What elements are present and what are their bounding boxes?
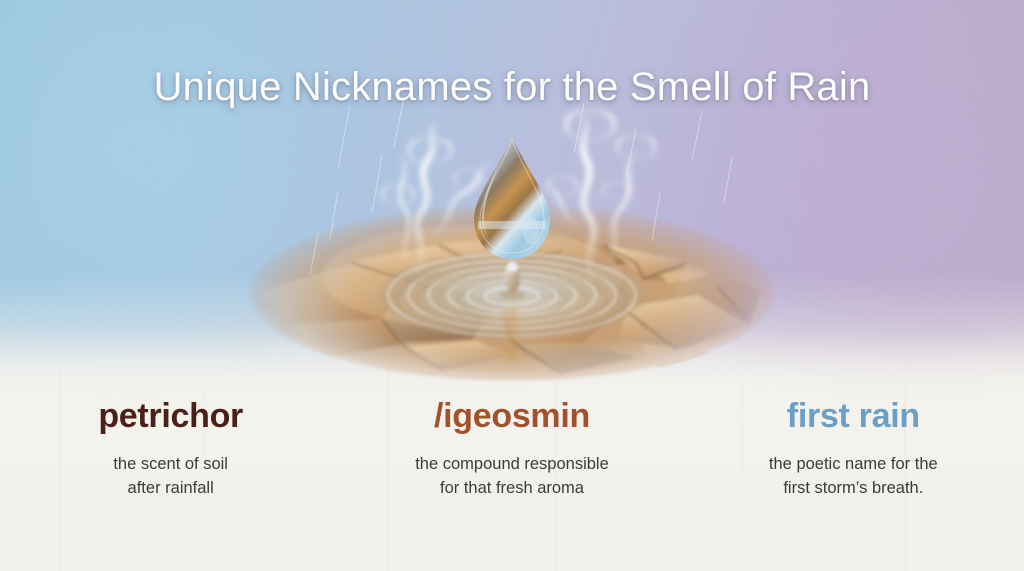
term-desc-line-2: for that fresh aroma — [353, 477, 670, 501]
term-column-geosmin: /igeosmin the compound responsible for t… — [341, 398, 682, 501]
term-list: petrichor the scent of soil after rainfa… — [0, 398, 1024, 501]
term-description-first-rain: the poetic name for the first storm’s br… — [695, 453, 1012, 501]
term-desc-line-2: after rainfall — [12, 477, 329, 501]
term-word-petrichor: petrichor — [12, 398, 329, 435]
term-description-petrichor: the scent of soil after rainfall — [12, 453, 329, 501]
term-desc-line-2: first storm’s breath. — [695, 477, 1012, 501]
term-desc-line-1: the compound responsible — [415, 455, 609, 473]
term-column-first-rain: first rain the poetic name for the first… — [683, 398, 1024, 501]
term-description-geosmin: the compound responsible for that fresh … — [353, 453, 670, 501]
term-column-petrichor: petrichor the scent of soil after rainfa… — [0, 398, 341, 501]
term-word-first-rain: first rain — [695, 398, 1012, 435]
term-desc-line-1: the poetic name for the — [769, 455, 938, 473]
poster-canvas: Unique Nicknames for the Smell of Rain — [0, 0, 1024, 571]
hero-illustration — [232, 95, 792, 385]
term-word-geosmin: /igeosmin — [353, 398, 670, 435]
water-droplet — [474, 135, 550, 259]
term-desc-line-1: the scent of soil — [113, 455, 228, 473]
